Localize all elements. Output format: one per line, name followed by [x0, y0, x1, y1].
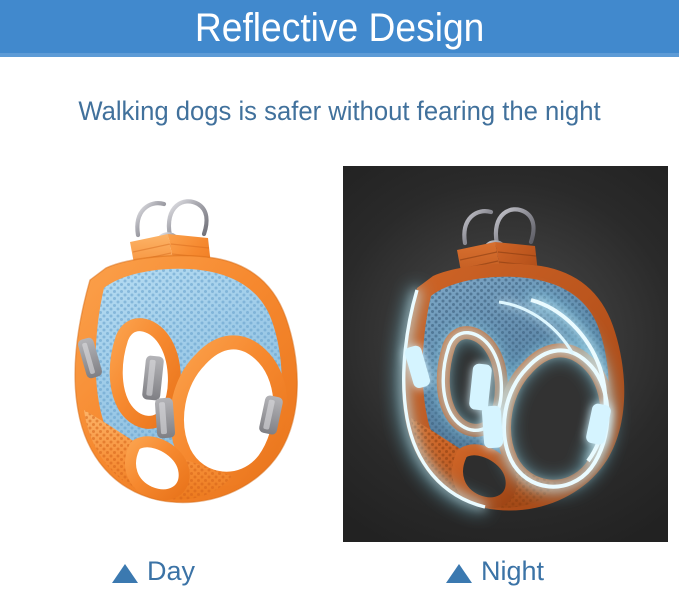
caption-night: Night	[446, 556, 544, 587]
caption-night-label: Night	[481, 556, 544, 587]
night-harness-illustration	[343, 166, 668, 542]
night-image-panel	[343, 166, 668, 542]
triangle-up-icon	[112, 564, 138, 583]
caption-day-label: Day	[147, 556, 195, 587]
page-title: Reflective Design	[195, 8, 484, 48]
subtitle-text: Walking dogs is safer without fearing th…	[17, 96, 662, 127]
triangle-up-icon	[446, 564, 472, 583]
comparison-panels	[0, 160, 679, 550]
panel-captions: Day Night	[0, 556, 679, 600]
harness-body	[75, 256, 297, 503]
header-banner: Reflective Design	[0, 0, 679, 57]
caption-day: Day	[112, 556, 195, 587]
day-image-panel	[18, 160, 338, 545]
day-harness-illustration	[18, 160, 338, 545]
